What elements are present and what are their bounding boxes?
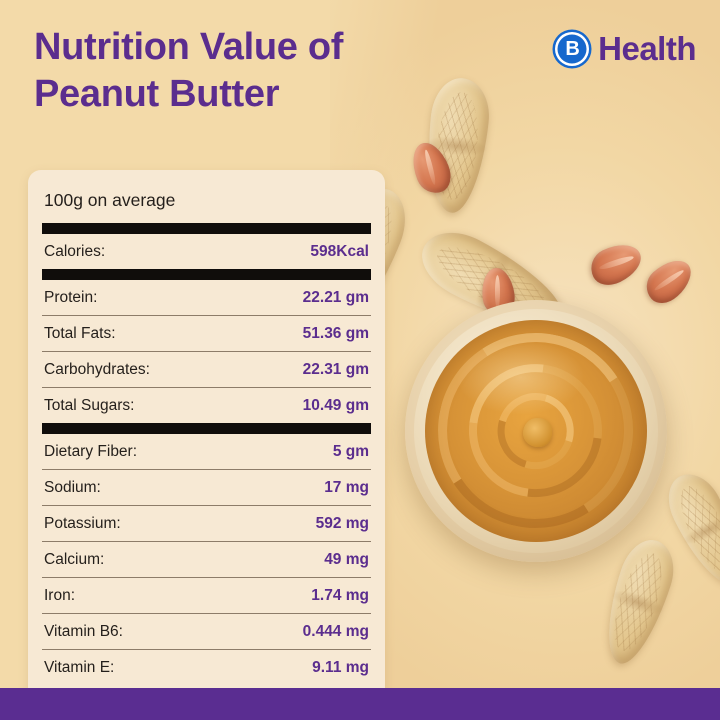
table-row: Dietary Fiber: 5 gm (42, 434, 371, 470)
peanut-shell-texture (429, 234, 556, 327)
row-label: Protein: (44, 289, 97, 307)
row-value: 22.31 gm (303, 361, 369, 379)
peanut-butter-surface (425, 320, 647, 542)
peanut-kernel-icon (639, 252, 699, 311)
peanut-shell-waist (469, 249, 516, 313)
row-value: 5 gm (333, 443, 369, 461)
table-row: Sodium: 17 mg (42, 470, 371, 506)
nutrition-infographic: Nutrition Value of Peanut Butter B Healt… (0, 0, 720, 720)
row-value: 17 mg (324, 479, 369, 497)
peanut-butter-bowl (405, 300, 667, 562)
row-value: 22.21 gm (303, 289, 369, 307)
nutrition-group-macros: Protein: 22.21 gm Total Fats: 51.36 gm C… (42, 280, 371, 423)
serving-size-note: 100g on average (42, 186, 371, 223)
page-title: Nutrition Value of Peanut Butter (34, 24, 464, 118)
peanut-kernel-icon (585, 236, 648, 291)
row-label: Calories: (44, 243, 105, 261)
peanut-shell-texture (605, 548, 670, 656)
table-row: Total Fats: 51.36 gm (42, 316, 371, 352)
table-row: Potassium: 592 mg (42, 506, 371, 542)
table-row: Calcium: 49 mg (42, 542, 371, 578)
row-label: Vitamin E: (44, 659, 114, 677)
butter-swirl (425, 320, 647, 542)
butter-swirl (485, 380, 587, 482)
row-value: 9.11 mg (312, 659, 369, 677)
brand-monogram: B (565, 39, 578, 59)
peanut-shell-icon (658, 465, 720, 595)
brand-logo: B Health (555, 30, 696, 68)
peanut-shell-icon (593, 533, 682, 671)
peanut-kernel-split (653, 268, 685, 292)
peanut-shell-waist (680, 512, 720, 549)
butter-swirl (443, 338, 630, 525)
table-row: Protein: 22.21 gm (42, 280, 371, 316)
nutrition-group-micros: Dietary Fiber: 5 gm Sodium: 17 mg Potass… (42, 434, 371, 685)
row-label: Total Sugars: (44, 397, 134, 415)
table-row: Calories: 598Kcal (42, 234, 371, 269)
peanut-kernel-icon (479, 266, 517, 318)
row-label: Total Fats: (44, 325, 116, 343)
row-label: Carbohydrates: (44, 361, 150, 379)
footer-bar (0, 688, 720, 720)
table-row: Total Sugars: 10.49 gm (42, 388, 371, 423)
table-row: Iron: 1.74 mg (42, 578, 371, 614)
peanut-shell-texture (671, 479, 720, 580)
table-row: Carbohydrates: 22.31 gm (42, 352, 371, 388)
row-value: 0.444 mg (303, 623, 369, 641)
section-divider-bar (42, 223, 371, 234)
bowl-rim (414, 309, 658, 553)
peanut-kernel-split (423, 149, 437, 186)
row-value: 592 mg (316, 515, 369, 533)
peanut-kernel-split (495, 275, 500, 309)
peanut-shell-waist (426, 134, 488, 158)
row-value: 1.74 mg (311, 587, 369, 605)
peanut-shell-texture (470, 329, 588, 391)
section-divider-bar (42, 423, 371, 434)
peanut-shell-waist (610, 586, 667, 619)
butter-center-peak (523, 418, 552, 447)
peanut-kernel-icon (405, 138, 456, 199)
row-value: 51.36 gm (303, 325, 369, 343)
row-label: Sodium: (44, 479, 101, 497)
nutrition-card: 100g on average Calories: 598Kcal Protei… (28, 170, 385, 703)
row-label: Dietary Fiber: (44, 443, 137, 461)
peanut-shell-icon (455, 317, 604, 403)
row-label: Vitamin B6: (44, 623, 123, 641)
butter-highlight (456, 340, 585, 415)
row-value: 49 mg (324, 551, 369, 569)
table-row: Vitamin E: 9.11 mg (42, 650, 371, 685)
peanut-kernel-split (598, 255, 634, 272)
row-label: Iron: (44, 587, 75, 605)
brand-name: Health (598, 30, 696, 68)
row-value: 10.49 gm (303, 397, 369, 415)
peanut-shell-waist (515, 329, 545, 392)
peanut-shell-icon (411, 219, 573, 343)
row-label: Calcium: (44, 551, 104, 569)
row-label: Potassium: (44, 515, 121, 533)
table-row: Vitamin B6: 0.444 mg (42, 614, 371, 650)
brand-circle-icon: B (555, 32, 589, 66)
nutrition-group-energy: Calories: 598Kcal (42, 234, 371, 269)
row-value: 598Kcal (310, 243, 369, 261)
section-divider-bar (42, 269, 371, 280)
butter-swirl (522, 417, 550, 445)
